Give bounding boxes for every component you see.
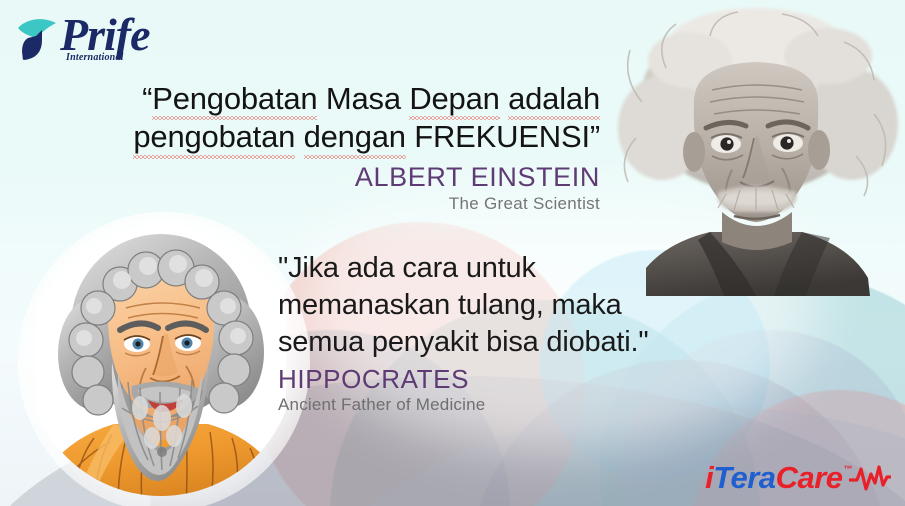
poster-canvas: Prife International [0,0,905,506]
hippocrates-portrait [36,222,286,506]
einstein-quote-line-1: “Pengobatan Masa Depan adalah [120,80,600,118]
quote-token [500,81,508,116]
hippocrates-author-name: HIPPOCRATES [278,364,708,395]
iteracare-logo-care: Care [776,460,843,496]
hippocrates-quote-line-3: semua penyakit bisa diobati." [278,324,708,361]
prife-logo-subtitle: International [66,52,124,63]
quote-token-misspelled: dengan [304,118,406,156]
hippocrates-quote-line-1: "Jika ada cara untuk [278,250,708,287]
hippocrates-portrait-graphic [36,222,286,506]
prife-leaf-mark-icon [16,14,60,66]
quote-token: FREKUENSI” [406,119,600,154]
quote-token-misspelled: pengobatan [133,118,295,156]
quote-token-misspelled: Depan [409,80,499,118]
quote-token-misspelled: Pengobatan [152,80,317,118]
einstein-quote-block: “Pengobatan Masa Depan adalah pengobatan… [120,80,600,214]
einstein-author-role: The Great Scientist [120,194,600,214]
hippocrates-author-role: Ancient Father of Medicine [278,395,708,415]
einstein-quote-line-2: pengobatan dengan FREKUENSI” [120,118,600,156]
quote-token-misspelled: adalah [508,80,600,118]
quote-token [401,81,409,116]
hippocrates-quote-block: "Jika ada cara untuk memanaskan tulang, … [278,250,708,415]
einstein-author-name: ALBERT EINSTEIN [120,162,600,193]
iteracare-logo-i: i [705,460,713,496]
prife-logo[interactable]: Prife International [16,12,196,70]
quote-token: “ [142,81,152,116]
iteracare-logo[interactable]: iTeraCare™ [705,460,891,496]
quote-token [295,119,303,154]
quote-token: Masa [326,81,401,116]
hippocrates-quote-line-2: memanaskan tulang, maka [278,287,708,324]
iteracare-logo-tera: Tera [713,460,775,496]
quote-token [317,81,325,116]
heartbeat-pulse-icon [849,465,891,491]
